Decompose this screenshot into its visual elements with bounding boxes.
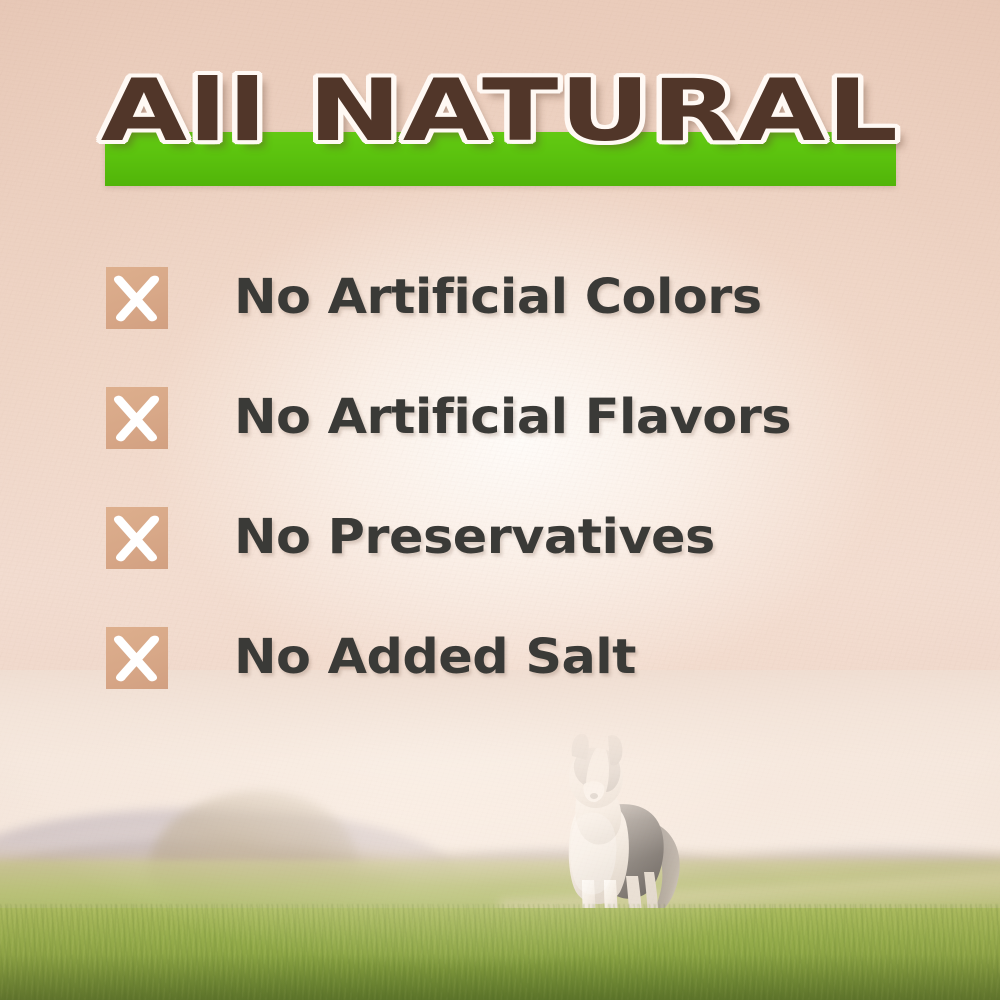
x-mark-icon bbox=[106, 627, 168, 689]
x-mark-icon bbox=[106, 267, 168, 329]
x-mark-icon bbox=[106, 387, 168, 449]
claim-label: No Preservatives bbox=[234, 500, 715, 574]
product-feature-graphic: All NATURAL No Artificial Colors No Arti… bbox=[0, 0, 1000, 1000]
claim-label: No Artificial Flavors bbox=[234, 380, 791, 454]
claim-row-no-artificial-flavors: No Artificial Flavors bbox=[106, 382, 966, 502]
claim-row-no-preservatives: No Preservatives bbox=[106, 502, 966, 622]
claim-label: No Artificial Colors bbox=[234, 260, 762, 334]
page-title: All NATURAL bbox=[0, 68, 1000, 154]
x-mark-icon bbox=[106, 507, 168, 569]
claim-row-no-added-salt: No Added Salt bbox=[106, 622, 966, 742]
claim-row-no-artificial-colors: No Artificial Colors bbox=[106, 262, 966, 382]
claims-list: No Artificial Colors No Artificial Flavo… bbox=[106, 262, 966, 742]
claim-label: No Added Salt bbox=[234, 620, 636, 694]
